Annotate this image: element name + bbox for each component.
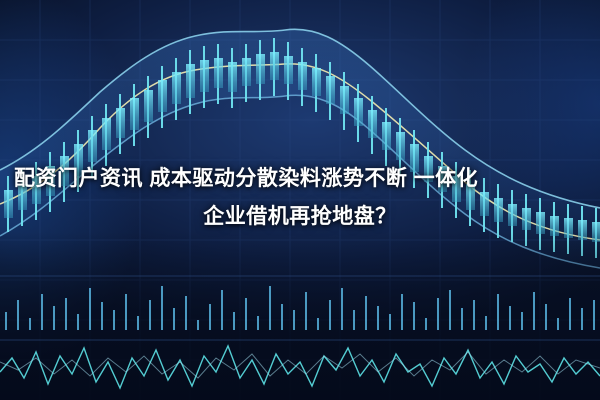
oscillator-line (0, 346, 600, 388)
subcharts (0, 0, 600, 400)
chart-banner-image: 配资门户资讯 成本驱动分散染料涨势不断 一体化 企业借机再抢地盘？ (0, 0, 600, 400)
volume-histogram (6, 286, 594, 330)
